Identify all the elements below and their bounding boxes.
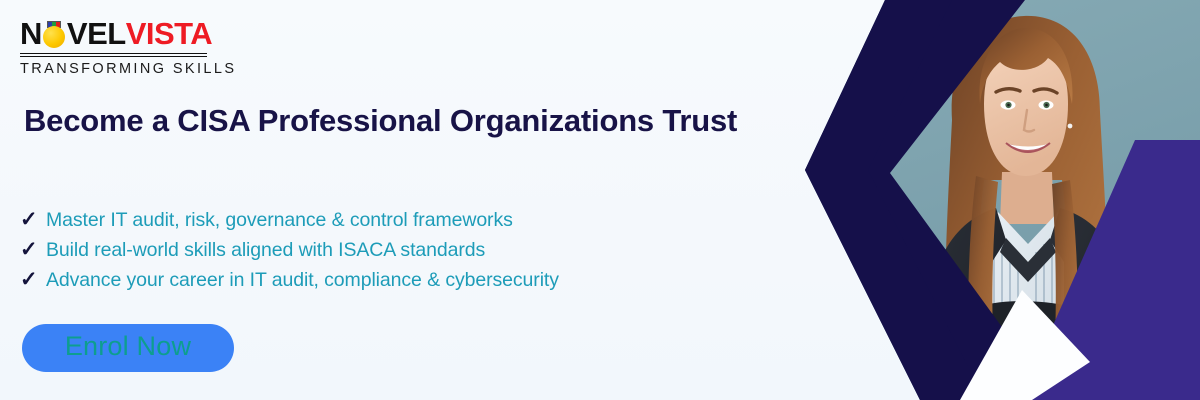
logo-letters-vel: VEL xyxy=(67,18,126,49)
logo-letter-n: N xyxy=(20,18,42,49)
promo-banner: N VEL VISTA TRANSFORMING SKILLS Become a… xyxy=(0,0,1200,400)
list-item: ✓ Master IT audit, risk, governance & co… xyxy=(20,208,740,233)
banner-artwork xyxy=(770,0,1200,400)
check-icon: ✓ xyxy=(20,239,46,260)
check-icon: ✓ xyxy=(20,269,46,290)
list-item: ✓ Build real-world skills aligned with I… xyxy=(20,238,740,263)
list-item-label: Advance your career in IT audit, complia… xyxy=(46,268,559,293)
enrol-now-button[interactable]: Enrol Now xyxy=(22,324,234,372)
logo-letters-vista: VISTA xyxy=(126,18,213,49)
medal-icon xyxy=(42,21,67,46)
neck xyxy=(1000,172,1054,224)
logo-divider xyxy=(20,53,207,57)
pupil-left xyxy=(1007,104,1010,107)
logo-tagline: TRANSFORMING SKILLS xyxy=(20,61,236,77)
list-item-label: Master IT audit, risk, governance & cont… xyxy=(46,208,513,233)
medal-disc xyxy=(43,26,65,48)
check-icon: ✓ xyxy=(20,209,46,230)
page-title: Become a CISA Professional Organizations… xyxy=(24,100,744,141)
benefits-list: ✓ Master IT audit, risk, governance & co… xyxy=(20,208,740,298)
list-item-label: Build real-world skills aligned with ISA… xyxy=(46,238,485,263)
pupil-right xyxy=(1045,104,1048,107)
logo[interactable]: N VEL VISTA TRANSFORMING SKILLS xyxy=(20,17,236,77)
list-item: ✓ Advance your career in IT audit, compl… xyxy=(20,268,740,293)
logo-wordmark: N VEL VISTA xyxy=(20,17,236,50)
earring xyxy=(1068,124,1073,129)
